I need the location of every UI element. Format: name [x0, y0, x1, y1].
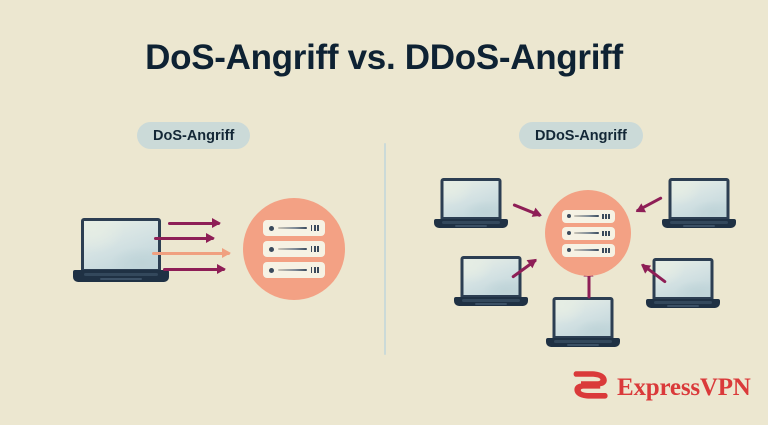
ddos-source-laptop-mid-left [454, 256, 528, 306]
server-icon [562, 227, 615, 240]
server-icon [263, 220, 325, 236]
ddos-attack-arrow-top-left [512, 203, 541, 217]
panel-divider [384, 143, 386, 355]
laptop-screen [672, 181, 727, 217]
server-icon [263, 241, 325, 257]
laptop-base [662, 219, 736, 228]
ddos-attack-arrow-top-right [636, 196, 663, 212]
laptop-screen [84, 221, 158, 269]
laptop-base [73, 270, 169, 282]
expressvpn-wordmark: ExpressVPN [617, 374, 751, 402]
laptop-screen [556, 300, 611, 336]
ddos-source-laptop-mid-right [646, 258, 720, 308]
server-icon [263, 262, 325, 278]
laptop-screen [464, 259, 519, 295]
ddos-panel-label: DDoS-Angriff [519, 122, 643, 149]
server-icon [562, 244, 615, 257]
server-icon [562, 210, 615, 223]
expressvpn-e-icon [573, 370, 609, 405]
laptop-base [454, 297, 528, 306]
page-title: DoS-Angriff vs. DDoS-Angriff [0, 38, 768, 78]
dos-source-laptop [73, 218, 169, 282]
ddos-target-server [545, 190, 631, 276]
dos-panel-label: DoS-Angriff [137, 122, 250, 149]
infographic-canvas: DoS-Angriff vs. DDoS-Angriff DoS-Angriff [0, 0, 768, 425]
dos-target-server [243, 198, 345, 300]
laptop-base [434, 219, 508, 228]
laptop-screen [444, 181, 499, 217]
laptop-base [546, 338, 620, 347]
laptop-base [646, 299, 720, 308]
ddos-source-laptop-bottom [546, 297, 620, 347]
ddos-source-laptop-top-right [662, 178, 736, 228]
expressvpn-logo[interactable]: ExpressVPN [573, 370, 751, 405]
ddos-source-laptop-top-left [434, 178, 508, 228]
